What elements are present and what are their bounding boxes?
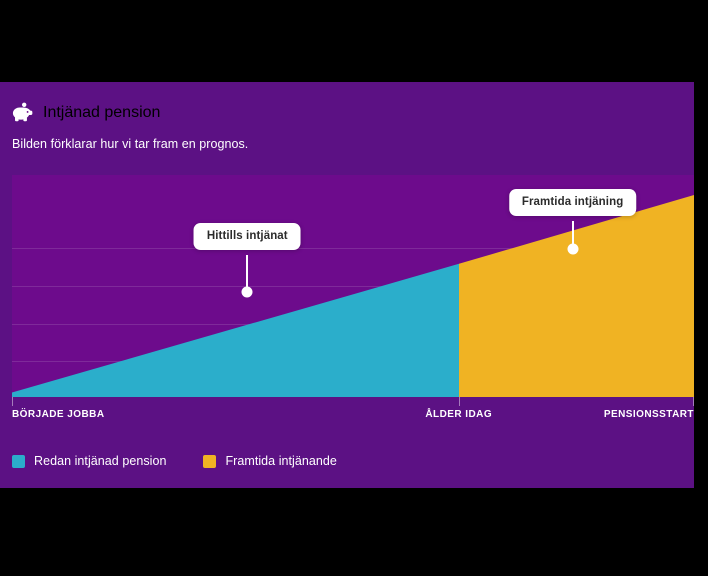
legend-label-future: Framtida intjänande — [225, 454, 336, 468]
axis-tick-retirement — [693, 397, 694, 406]
page-subtitle: Bilden förklarar hur vi tar fram en prog… — [0, 137, 694, 151]
piggy-bank-icon — [12, 102, 34, 123]
axis-label-borjade-jobba: BÖRJADE JOBBA — [12, 409, 105, 420]
chart-legend: Redan intjänad pension Framtida intjänan… — [12, 454, 337, 468]
page-title: Intjänad pension — [43, 104, 160, 122]
chart-x-axis: BÖRJADE JOBBA ÅLDER IDAG PENSIONSSTART — [12, 397, 694, 431]
axis-label-alder-idag: ÅLDER IDAG — [425, 409, 492, 420]
series-area-earned — [12, 264, 459, 397]
axis-label-pensionsstart: PENSIONSSTART — [604, 409, 694, 420]
pension-area-chart: Hittills intjänat Framtida intjäning — [12, 175, 694, 397]
axis-tick-start — [12, 397, 13, 406]
chart-series-svg — [12, 175, 694, 397]
screen: Intjänad pension Bilden förklarar hur vi… — [0, 0, 708, 576]
axis-tick-today — [459, 397, 460, 406]
legend-label-earned: Redan intjänad pension — [34, 454, 166, 468]
card-header: Intjänad pension Bilden förklarar hur vi… — [0, 82, 694, 151]
pension-chart-card: Intjänad pension Bilden förklarar hur vi… — [0, 82, 694, 488]
legend-swatch-icon — [203, 455, 216, 468]
legend-future[interactable]: Framtida intjänande — [203, 454, 336, 468]
title-row: Intjänad pension — [0, 102, 694, 123]
legend-earned[interactable]: Redan intjänad pension — [12, 454, 166, 468]
legend-swatch-icon — [12, 455, 25, 468]
series-area-future — [459, 195, 694, 397]
